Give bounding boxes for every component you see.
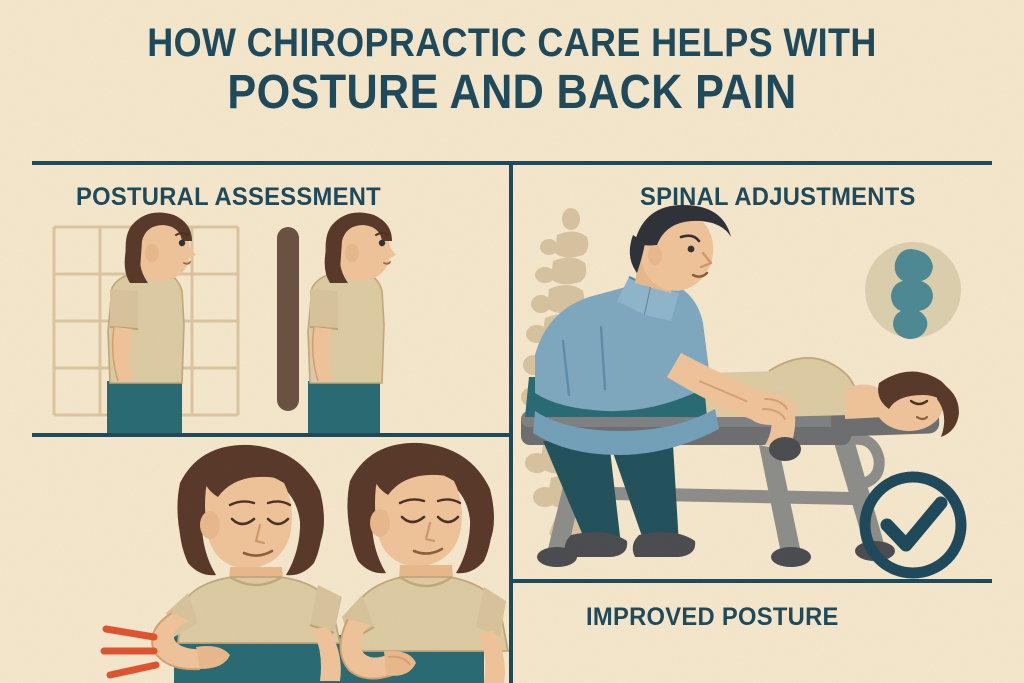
figure-spinal-adjustments bbox=[513, 205, 992, 579]
page-title: HOW CHIROPRACTIC CARE HELPS WITH POSTURE… bbox=[0, 22, 1024, 119]
spine-badge bbox=[865, 242, 961, 339]
divider-right-lower bbox=[509, 579, 992, 583]
infographic-canvas: HOW CHIROPRACTIC CARE HELPS WITH POSTURE… bbox=[0, 0, 1024, 683]
woman-profile-against-wall-post bbox=[308, 213, 396, 433]
woman-holding-lower-back-in-pain bbox=[104, 445, 350, 683]
title-line-1: HOW CHIROPRACTIC CARE HELPS WITH bbox=[51, 22, 973, 64]
divider-left-middle bbox=[32, 433, 513, 437]
check-circle-icon bbox=[865, 477, 961, 573]
section-heading-improved-posture: IMPROVED POSTURE bbox=[586, 603, 839, 632]
section-heading-spinal-adjustments: SPINAL ADJUSTMENTS bbox=[640, 183, 916, 212]
plumb-line-post bbox=[277, 227, 299, 411]
divider-vertical bbox=[509, 161, 513, 683]
woman-slouching-discomfort bbox=[340, 443, 508, 683]
title-line-2: POSTURE AND BACK PAIN bbox=[51, 68, 973, 119]
pain-lines-icon bbox=[104, 629, 156, 675]
section-heading-postural-assessment: POSTURAL ASSESSMENT bbox=[76, 183, 381, 212]
figure-back-pain bbox=[32, 437, 509, 683]
woman-profile-on-posture-grid bbox=[107, 213, 196, 433]
figure-postural-assessment bbox=[32, 205, 509, 433]
